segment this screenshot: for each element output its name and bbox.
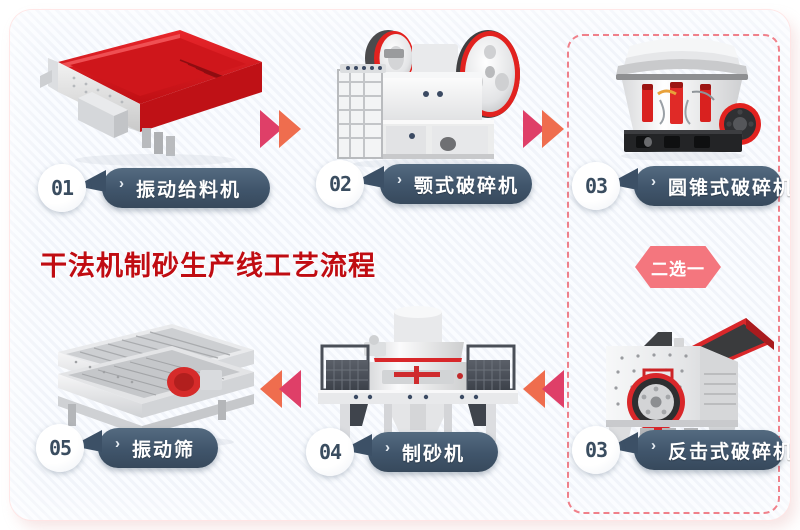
- vibrating-feeder-icon: [30, 20, 275, 170]
- chevron-right-icon: ›: [115, 436, 120, 451]
- stage-04-sand-making-machine[interactable]: › 制砂机 04: [310, 302, 525, 452]
- stage-label-pill[interactable]: › 圆锥式破碎机: [634, 166, 782, 206]
- sand-making-machine-icon: [310, 302, 525, 452]
- arrow-sand-to-screen: [260, 370, 301, 408]
- stage-label-text: 制砂机: [402, 439, 465, 466]
- stage-02-jaw-crusher[interactable]: › 颚式破碎机 02: [320, 16, 535, 171]
- arrow-jaw-to-cone: [523, 110, 564, 148]
- choose-one-label: 二选一: [651, 255, 705, 280]
- stage-number-bubble: 03: [572, 162, 620, 210]
- stage-01-vibrating-feeder[interactable]: › 振动给料机 01: [30, 20, 275, 170]
- stage-number-text: 02: [329, 172, 351, 196]
- stage-label-text: 反击式破碎机: [668, 437, 790, 464]
- stage-number-text: 03: [585, 438, 607, 462]
- stage-number-text: 04: [319, 440, 341, 464]
- stage-number-text: 05: [49, 436, 71, 460]
- arrow-impact-to-sand: [523, 370, 564, 408]
- jaw-crusher-icon: [320, 16, 535, 171]
- chevron-right-icon: ›: [397, 172, 402, 187]
- stage-number-bubble: 05: [36, 424, 84, 472]
- stage-03-impact-crusher[interactable]: › 反击式破碎机 03: [588, 300, 783, 450]
- stage-label-pill[interactable]: › 振动筛: [98, 428, 218, 468]
- impact-crusher-icon: [588, 300, 783, 450]
- chevron-right-icon: ›: [385, 440, 390, 455]
- arrow-feeder-to-jaw: [260, 110, 301, 148]
- stage-label-text: 颚式破碎机: [414, 171, 519, 198]
- stage-label-pill[interactable]: › 反击式破碎机: [634, 430, 784, 470]
- stage-label-text: 振动筛: [132, 435, 195, 462]
- chevron-right-icon: ›: [651, 438, 656, 453]
- page-title: 干法机制砂生产线工艺流程: [40, 244, 376, 283]
- chevron-right-icon: ›: [651, 174, 656, 189]
- stage-label-pill[interactable]: › 制砂机: [368, 432, 498, 472]
- stage-label-pill[interactable]: › 振动给料机: [102, 168, 270, 208]
- stage-label-text: 圆锥式破碎机: [668, 173, 790, 200]
- stage-label-pill[interactable]: › 颚式破碎机: [380, 164, 532, 204]
- cone-crusher-icon: [588, 18, 778, 168]
- process-flow-card: › 振动给料机 01: [10, 10, 790, 520]
- stage-05-vibrating-screen[interactable]: › 振动筛 05: [32, 300, 272, 450]
- choose-one-badge: 二选一: [635, 246, 721, 288]
- stage-03-cone-crusher[interactable]: › 圆锥式破碎机 03: [588, 18, 778, 168]
- stage-number-bubble: 04: [306, 428, 354, 476]
- stage-number-bubble: 02: [316, 160, 364, 208]
- stage-number-text: 01: [51, 176, 73, 200]
- stage-number-bubble: 01: [38, 164, 86, 212]
- stage-label-text: 振动给料机: [136, 175, 241, 202]
- stage-number-text: 03: [585, 174, 607, 198]
- stage-number-bubble: 03: [572, 426, 620, 474]
- chevron-right-icon: ›: [119, 176, 124, 191]
